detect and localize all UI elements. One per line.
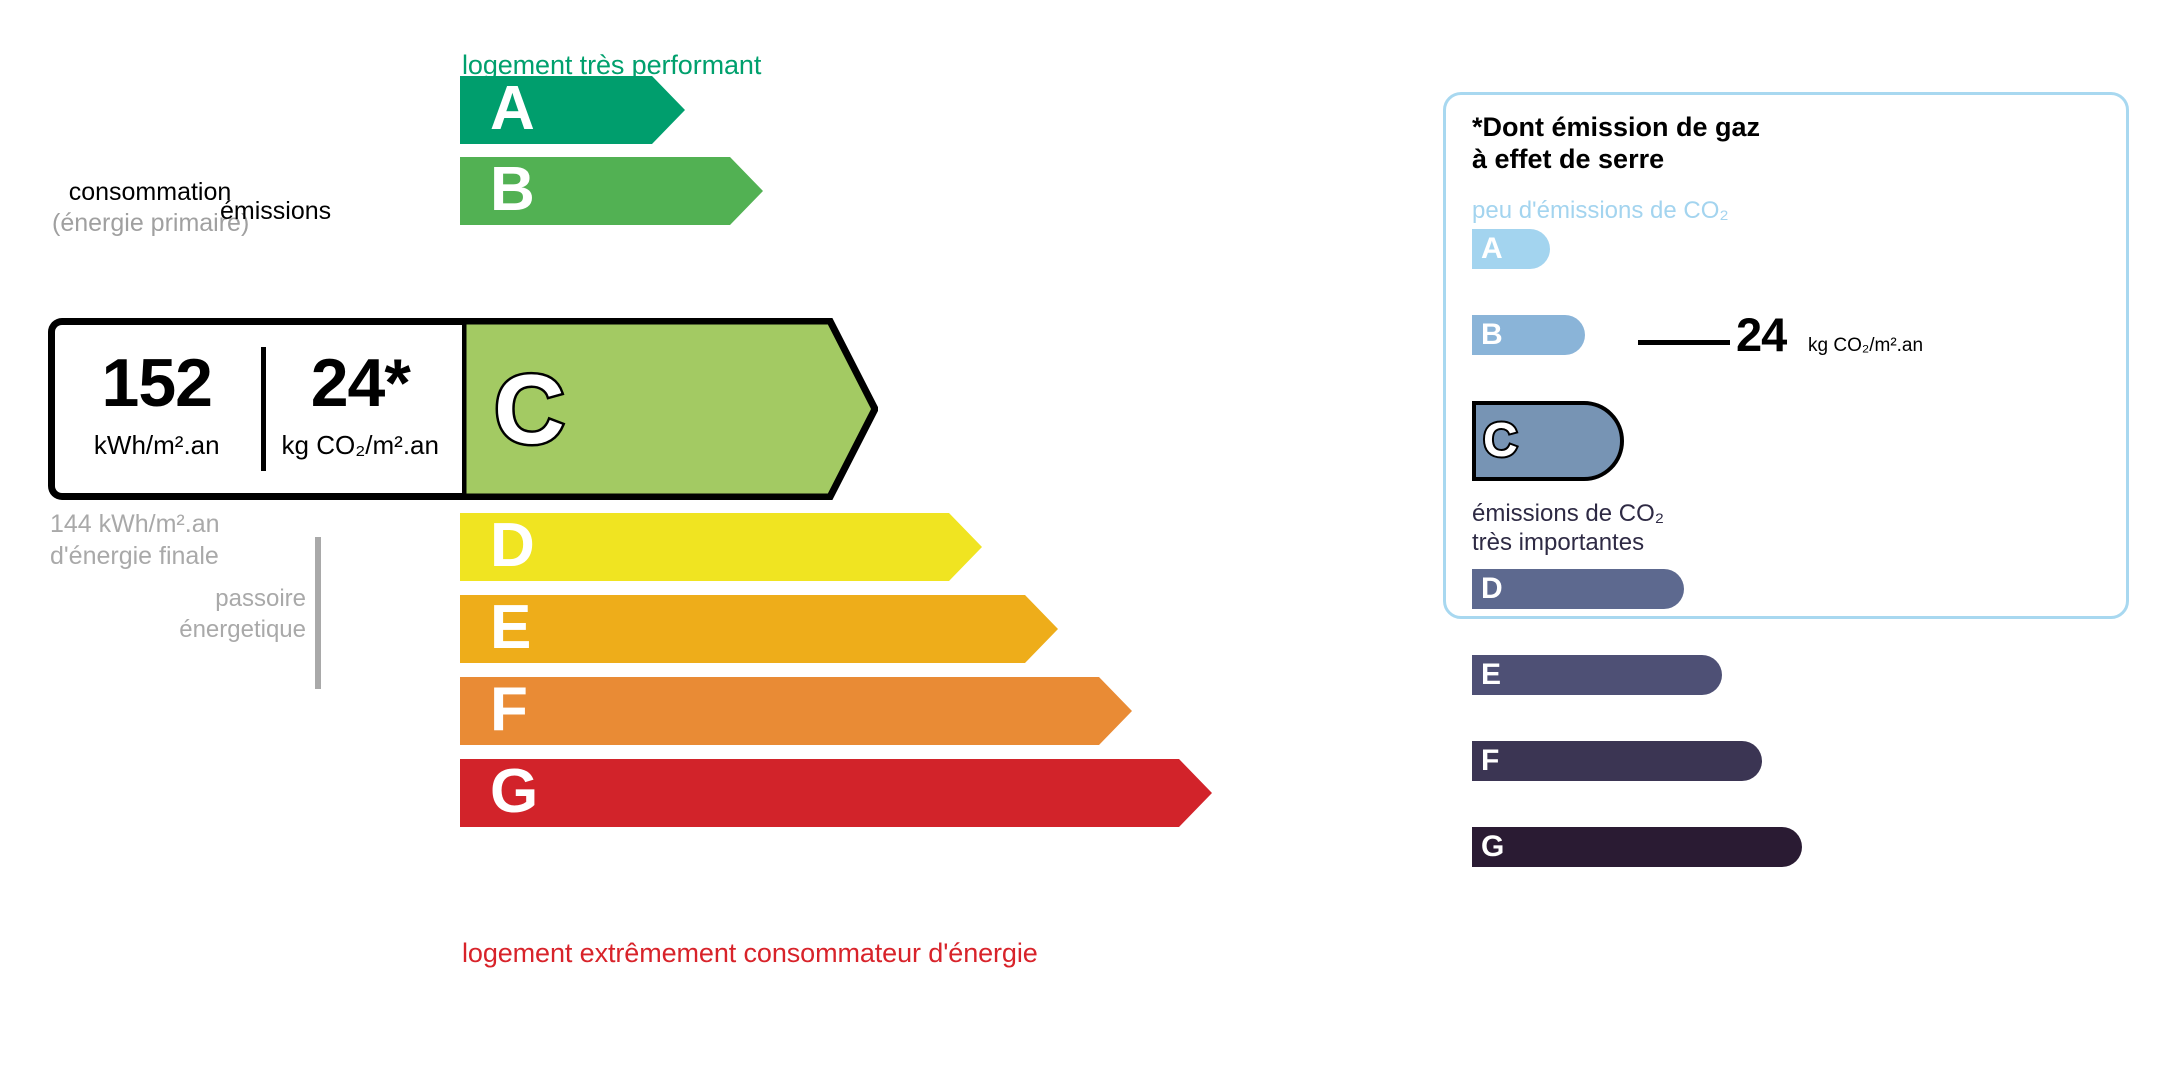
passoire-label: passoire énergetique [120, 584, 306, 645]
passoire-bracket [315, 537, 321, 689]
energy-row-d[interactable]: D [460, 513, 982, 581]
co2-bar-d [1472, 569, 1684, 609]
passoire-line-2: énergetique [120, 615, 306, 646]
co2-letter-d: D [1481, 574, 1503, 604]
energy-arrow-b [460, 157, 763, 225]
energy-performance-diagram: logement très performant A B C [0, 0, 1340, 1079]
energy-arrow-e [460, 595, 1058, 663]
energy-row-f[interactable]: F [460, 677, 1132, 745]
co2-bottom-line-2: très importantes [1472, 528, 1664, 557]
consumption-header-title: consommation [69, 178, 232, 206]
consumption-unit: kWh/m².an [55, 431, 259, 460]
energy-row-c[interactable]: C [460, 318, 878, 500]
co2-letter-c: C [1483, 417, 1518, 465]
consumption-cell: 152 kWh/m².an [55, 325, 259, 493]
energy-row-g[interactable]: G [460, 759, 1212, 827]
co2-value-unit: kg CO₂/m².an [1808, 335, 1923, 357]
energy-row-b[interactable]: B [460, 157, 763, 225]
energy-bottom-caption: logement extrêmement consommateur d'éner… [462, 938, 1038, 969]
co2-letter-a: A [1481, 234, 1503, 264]
energy-arrow-g [460, 759, 1212, 827]
co2-bar-e [1472, 655, 1722, 695]
consumption-value: 152 [55, 349, 259, 417]
final-energy-label: d'énergie finale [50, 540, 220, 572]
emissions-value: 24* [259, 349, 463, 417]
energy-arrow-d [460, 513, 982, 581]
energy-arrow-c [460, 318, 878, 500]
co2-bottom-caption: émissions de CO₂ très importantes [1472, 499, 1664, 558]
energy-arrow-a [460, 76, 685, 144]
co2-letter-b: B [1481, 320, 1503, 350]
final-energy-note: 144 kWh/m².an d'énergie finale [50, 508, 220, 572]
measurement-box: 152 kWh/m².an 24* kg CO₂/m².an [48, 318, 462, 500]
co2-bottom-line-1: émissions de CO₂ [1472, 499, 1664, 528]
energy-row-a[interactable]: A [460, 76, 685, 144]
final-energy-value: 144 kWh/m².an [50, 508, 220, 540]
co2-connector-line [1638, 340, 1730, 345]
consumption-header-subtitle: (énergie primaire) [52, 209, 248, 238]
co2-title-line-1: *Dont émission de gaz [1472, 112, 1760, 144]
co2-letter-e: E [1481, 660, 1501, 690]
consumption-header: consommation (énergie primaire) [52, 178, 248, 238]
co2-title-line-2: à effet de serre [1472, 144, 1760, 176]
co2-bar-g [1472, 827, 1802, 867]
co2-bar-f [1472, 741, 1762, 781]
passoire-line-1: passoire [120, 584, 306, 615]
co2-emissions-panel: *Dont émission de gaz à effet de serre p… [1443, 92, 2129, 619]
co2-letter-f: F [1481, 746, 1499, 776]
co2-top-caption: peu d'émissions de CO₂ [1472, 197, 1729, 225]
co2-value: 24 [1736, 311, 1786, 358]
emissions-header: émissions [220, 197, 331, 226]
energy-row-e[interactable]: E [460, 595, 1058, 663]
co2-panel-title: *Dont émission de gaz à effet de serre [1472, 112, 1760, 176]
co2-letter-g: G [1481, 832, 1504, 862]
emissions-cell: 24* kg CO₂/m².an [259, 325, 463, 493]
energy-arrow-f [460, 677, 1132, 745]
emissions-unit: kg CO₂/m².an [259, 431, 463, 460]
